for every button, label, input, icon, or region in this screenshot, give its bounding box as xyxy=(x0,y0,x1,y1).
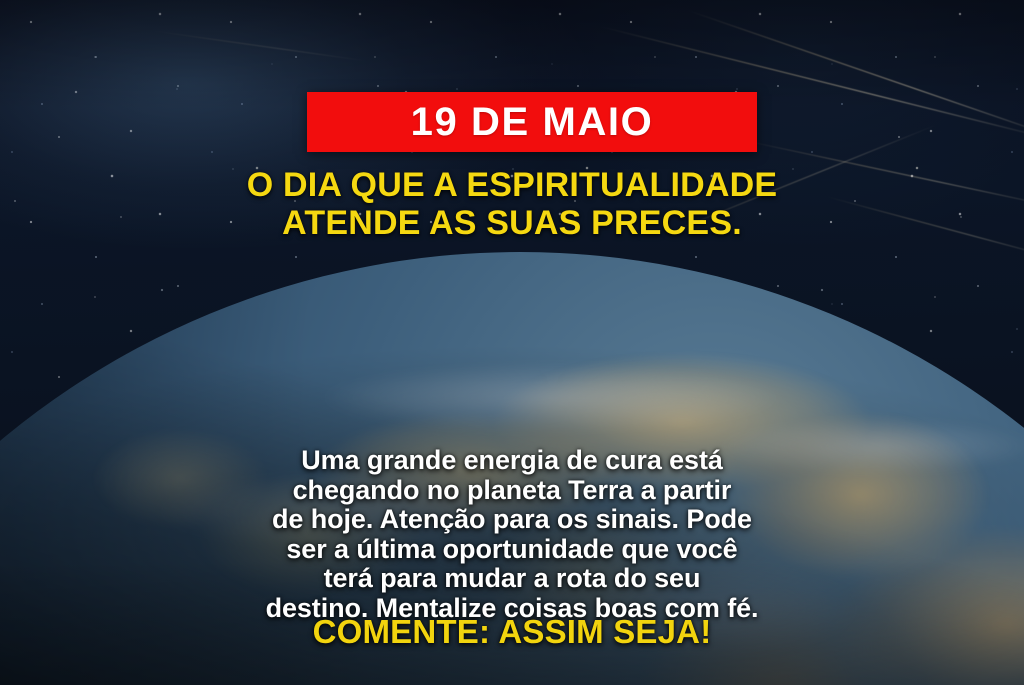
headline: O DIA QUE A ESPIRITUALIDADE ATENDE AS SU… xyxy=(0,166,1024,242)
headline-line-2: ATENDE AS SUAS PRECES. xyxy=(0,204,1024,242)
date-banner-text: 19 DE MAIO xyxy=(411,102,654,142)
date-banner: 19 DE MAIO xyxy=(307,92,757,152)
headline-line-1: O DIA QUE A ESPIRITUALIDADE xyxy=(0,166,1024,204)
body-line-3: de hoje. Atenção para os sinais. Pode xyxy=(0,505,1024,535)
body-paragraph: Uma grande energia de cura está chegando… xyxy=(0,446,1024,623)
body-line-1: Uma grande energia de cura está xyxy=(0,446,1024,476)
call-to-action-text: COMENTE: ASSIM SEJA! xyxy=(0,614,1024,650)
body-line-5: terá para mudar a rota do seu xyxy=(0,564,1024,594)
poster-canvas: 19 DE MAIO O DIA QUE A ESPIRITUALIDADE A… xyxy=(0,0,1024,685)
body-line-2: chegando no planeta Terra a partir xyxy=(0,476,1024,506)
body-line-4: ser a última oportunidade que você xyxy=(0,535,1024,565)
